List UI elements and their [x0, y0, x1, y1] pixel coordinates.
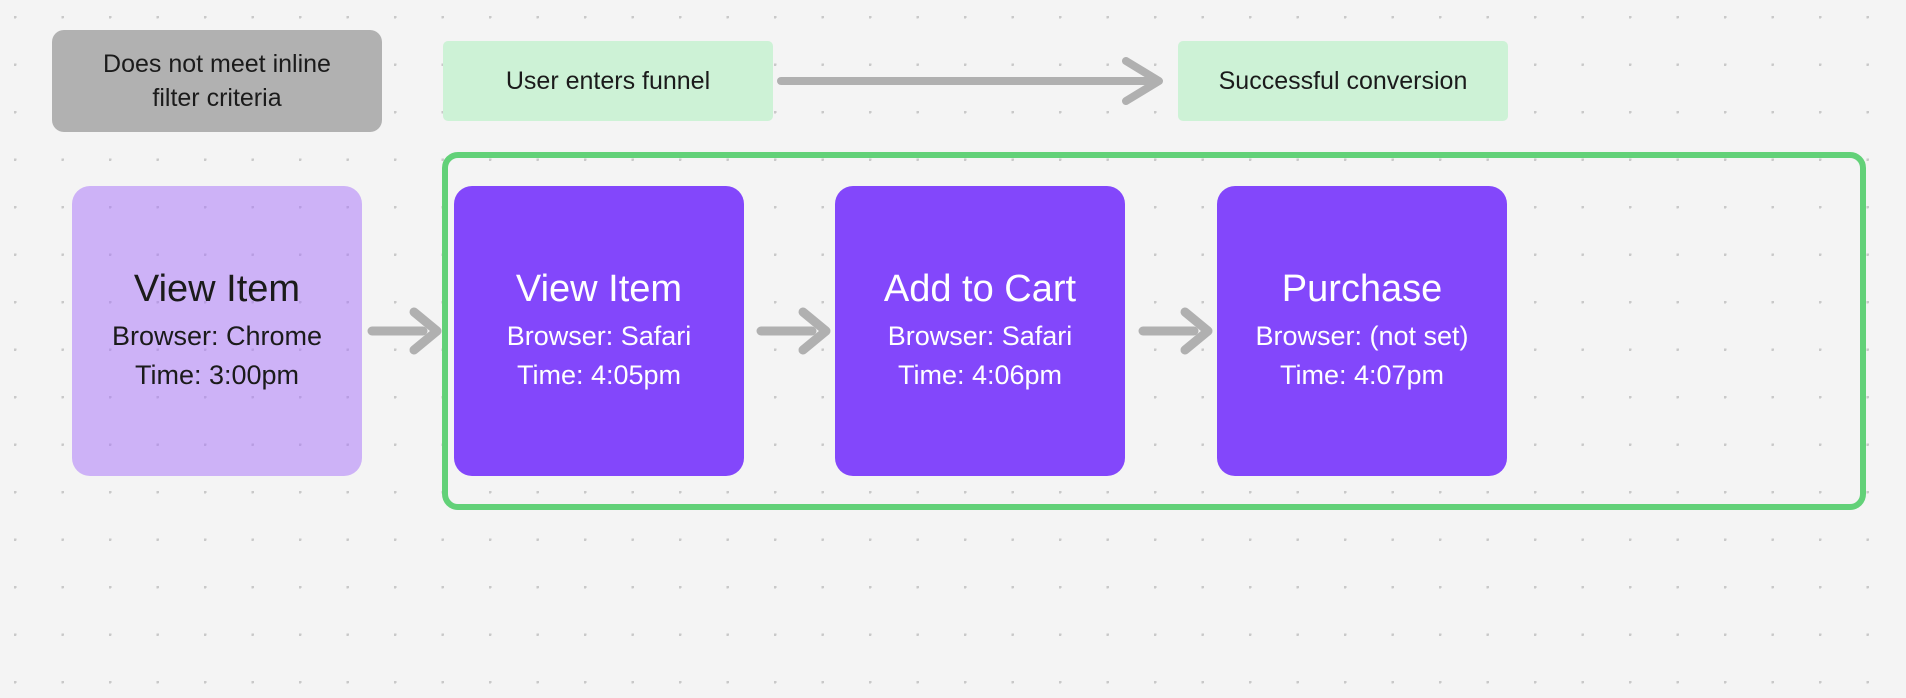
- diagram-canvas: Does not meet inline filter criteria Use…: [0, 0, 1906, 698]
- event-card-time: Time: 4:05pm: [517, 356, 681, 395]
- event-card-browser: Browser: Safari: [507, 317, 692, 356]
- event-card-time: Time: 4:07pm: [1280, 356, 1444, 395]
- legend-user-enters-funnel: User enters funnel: [443, 41, 773, 121]
- event-card-add-to-cart[interactable]: Add to Cart Browser: Safari Time: 4:06pm: [835, 186, 1125, 476]
- event-flow-arrow-icon-0: [369, 308, 445, 354]
- event-card-time: Time: 4:06pm: [898, 356, 1062, 395]
- event-card-title: View Item: [516, 267, 682, 312]
- event-card-view-item[interactable]: View Item Browser: Safari Time: 4:05pm: [454, 186, 744, 476]
- legend-excluded-criteria: Does not meet inline filter criteria: [52, 30, 382, 132]
- legend-successful-conversion: Successful conversion: [1178, 41, 1508, 121]
- legend-enters-funnel-label: User enters funnel: [506, 64, 710, 99]
- legend-flow-arrow-icon: [778, 58, 1170, 104]
- event-flow-arrow-icon-1: [758, 308, 834, 354]
- event-card-browser: Browser: Chrome: [112, 317, 322, 356]
- event-card-time: Time: 3:00pm: [135, 356, 299, 395]
- event-card-title: View Item: [134, 267, 300, 312]
- event-card-title: Add to Cart: [884, 267, 1076, 312]
- event-card-title: Purchase: [1282, 267, 1443, 312]
- legend-successful-conversion-label: Successful conversion: [1219, 64, 1468, 99]
- event-card-excluded-view-item[interactable]: View Item Browser: Chrome Time: 3:00pm: [72, 186, 362, 476]
- event-card-purchase[interactable]: Purchase Browser: (not set) Time: 4:07pm: [1217, 186, 1507, 476]
- event-card-browser: Browser: Safari: [888, 317, 1073, 356]
- event-card-browser: Browser: (not set): [1255, 317, 1468, 356]
- event-flow-arrow-icon-2: [1140, 308, 1216, 354]
- legend-excluded-label: Does not meet inline filter criteria: [78, 47, 356, 116]
